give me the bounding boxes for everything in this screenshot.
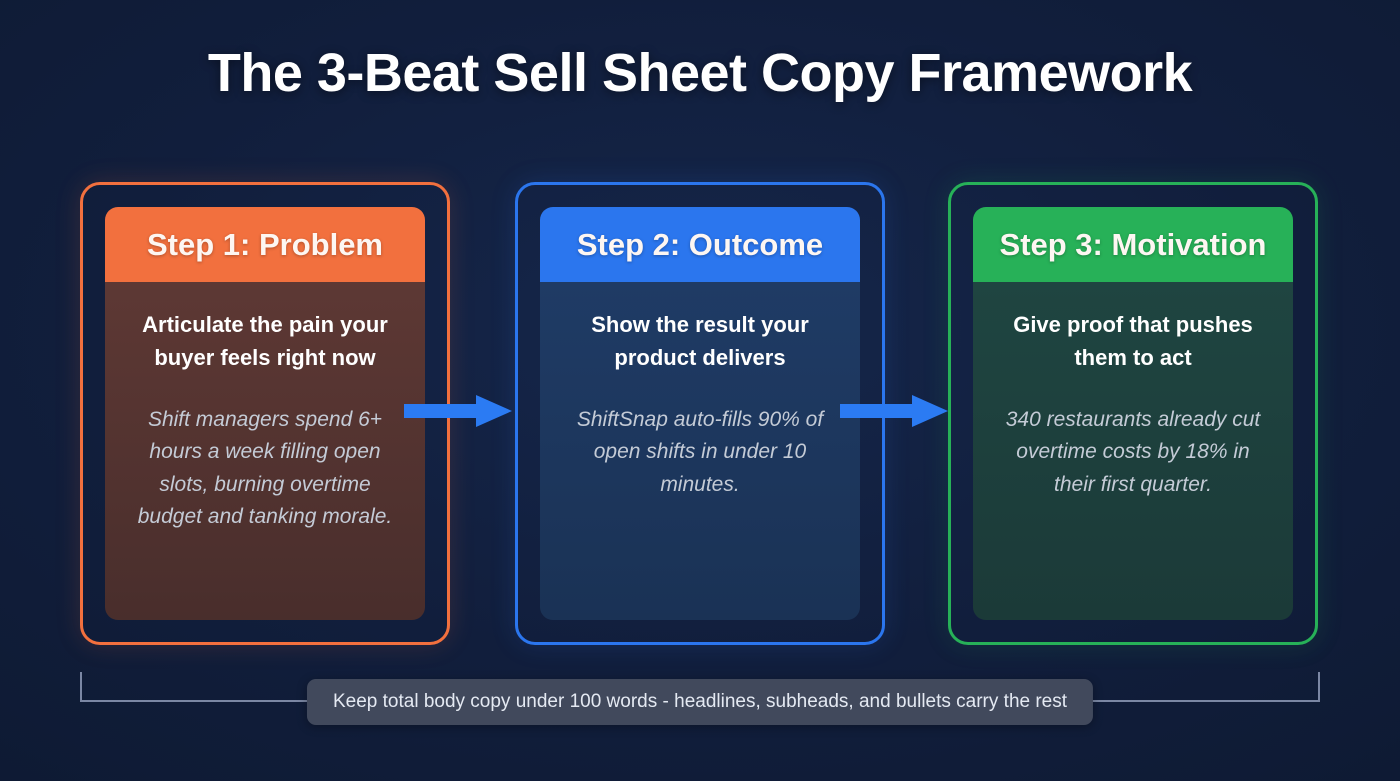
step-card-2-body: Show the result your product delivers Sh… — [540, 282, 860, 620]
step-card-2[interactable]: Step 2: Outcome Show the result your pro… — [515, 182, 885, 645]
step-card-1-header: Step 1: Problem — [105, 207, 425, 282]
arrow-right-icon — [840, 395, 948, 427]
page-title: The 3-Beat Sell Sheet Copy Framework — [0, 42, 1400, 104]
step-card-1-example: Shift managers spend 6+ hours a week fil… — [125, 404, 405, 533]
step-card-3-example: 340 restaurants already cut overtime cos… — [993, 404, 1273, 501]
step-card-2-example: ShiftSnap auto-fills 90% of open shifts … — [560, 404, 840, 501]
step-card-2-headline: Show the result your product delivers — [560, 308, 840, 374]
step-card-3-header: Step 3: Motivation — [973, 207, 1293, 282]
step-card-3-panel: Step 3: Motivation Give proof that pushe… — [973, 207, 1293, 620]
step-card-1-panel: Step 1: Problem Articulate the pain your… — [105, 207, 425, 620]
steps-row: Step 1: Problem Articulate the pain your… — [80, 182, 1320, 645]
step-card-3[interactable]: Step 3: Motivation Give proof that pushe… — [948, 182, 1318, 645]
footer-note: Keep total body copy under 100 words - h… — [307, 679, 1093, 725]
step-card-3-body: Give proof that pushes them to act 340 r… — [973, 282, 1293, 620]
step-card-3-headline: Give proof that pushes them to act — [993, 308, 1273, 374]
step-card-1-body: Articulate the pain your buyer feels rig… — [105, 282, 425, 620]
step-card-1[interactable]: Step 1: Problem Articulate the pain your… — [80, 182, 450, 645]
arrow-right-icon — [404, 395, 512, 427]
step-card-2-header: Step 2: Outcome — [540, 207, 860, 282]
step-card-2-panel: Step 2: Outcome Show the result your pro… — [540, 207, 860, 620]
step-card-1-headline: Articulate the pain your buyer feels rig… — [125, 308, 405, 374]
